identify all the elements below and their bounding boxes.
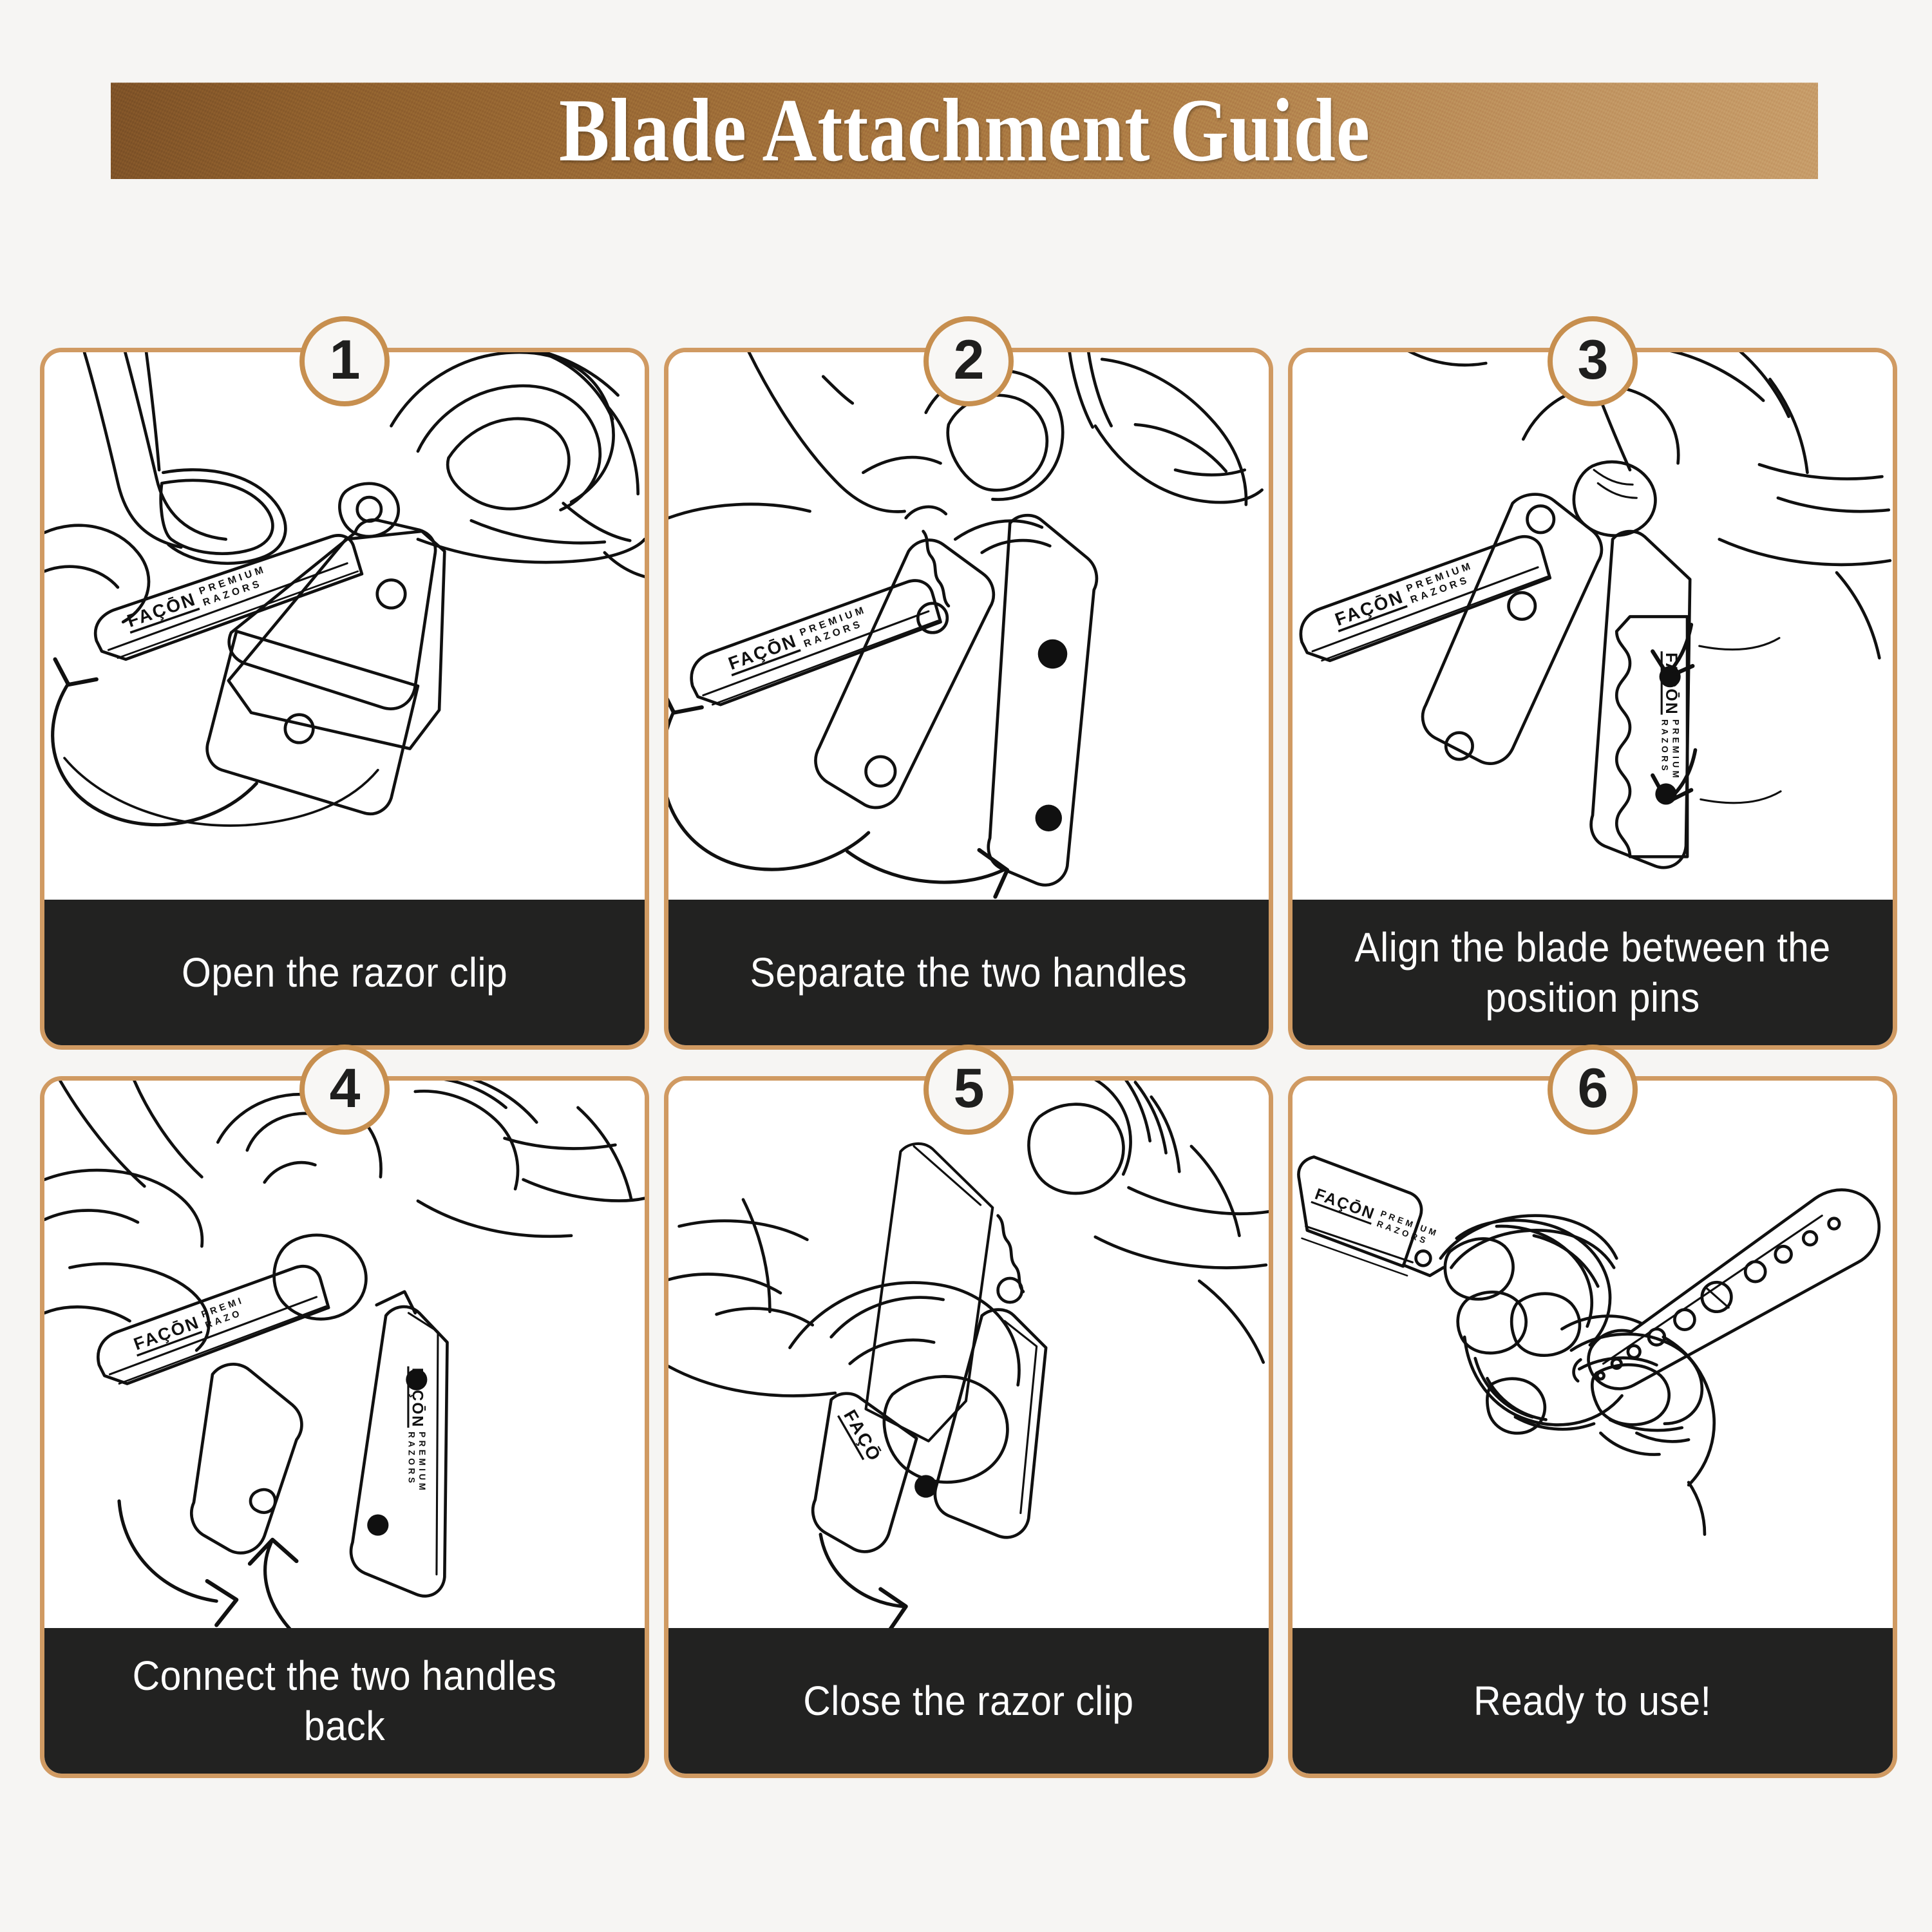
step-card-inner-1: FAÇŌN PREMIUM RAZORS [44, 352, 645, 1045]
svg-text:RAZORS: RAZORS [406, 1432, 416, 1486]
step-card-3[interactable]: 3 [1288, 348, 1897, 1050]
step-caption-text-6: Ready to use! [1473, 1676, 1711, 1726]
svg-text:PREMIUM: PREMIUM [1671, 719, 1680, 781]
illustration-align-blade-pins: FAÇŌN PREMIUM RAZORS [1293, 352, 1893, 900]
illustration-ready-to-use: FAÇŌN PREMIUM RAZORS [1293, 1081, 1893, 1628]
step-card-inner-4: FAÇŌN PREMI RAZO FAÇŌN [44, 1081, 645, 1774]
svg-text:FAÇŌN: FAÇŌN [131, 1312, 202, 1354]
step-caption-6: Ready to use! [1293, 1628, 1893, 1774]
step-card-inner-5: FAÇŌ Close the razor clip [668, 1081, 1269, 1774]
svg-text:FAÇŌN: FAÇŌN [1332, 586, 1406, 629]
header-banner: Blade Attachment Guide [111, 82, 1818, 179]
illustration-open-razor-clip: FAÇŌN PREMIUM RAZORS [44, 352, 645, 900]
step-badge-6: 6 [1548, 1045, 1638, 1135]
step-card-2[interactable]: 2 [664, 348, 1273, 1050]
step-card-5[interactable]: 5 [664, 1076, 1273, 1778]
step-number-5: 5 [954, 1061, 984, 1116]
step-number-4: 4 [330, 1061, 360, 1116]
page-title: Blade Attachment Guide [559, 86, 1370, 176]
step-caption-text-5: Close the razor clip [803, 1676, 1133, 1726]
step-caption-2: Separate the two handles [668, 900, 1269, 1045]
step-number-2: 2 [954, 332, 984, 388]
step-caption-text-1: Open the razor clip [182, 947, 507, 998]
step-caption-text-3: Align the blade between the position pin… [1340, 922, 1845, 1023]
illustration-close-razor-clip: FAÇŌ [668, 1081, 1269, 1628]
step-badge-4: 4 [299, 1045, 390, 1135]
svg-text:FAÇŌN: FAÇŌN [1312, 1185, 1378, 1224]
step-caption-1: Open the razor clip [44, 900, 645, 1045]
step-number-1: 1 [330, 332, 360, 388]
step-caption-4: Connect the two handles back [44, 1628, 645, 1774]
illustration-separate-handles: FAÇŌN PREMIUM RAZORS [668, 352, 1269, 900]
svg-text:PREMIUM: PREMIUM [417, 1432, 427, 1493]
step-badge-1: 1 [299, 316, 390, 406]
illustration-connect-handles: FAÇŌN PREMI RAZO FAÇŌN [44, 1081, 645, 1628]
step-number-3: 3 [1578, 332, 1608, 388]
step-card-inner-6: FAÇŌN PREMIUM RAZORS [1293, 1081, 1893, 1774]
step-card-inner-2: FAÇŌN PREMIUM RAZORS [668, 352, 1269, 1045]
step-caption-text-4: Connect the two handles back [92, 1651, 597, 1751]
step-caption-5: Close the razor clip [668, 1628, 1269, 1774]
step-card-1[interactable]: 1 [40, 348, 649, 1050]
steps-grid: 1 [40, 348, 1892, 1778]
step-card-6[interactable]: 6 FAÇŌN PREMIUM RAZORS [1288, 1076, 1897, 1778]
infographic-page: Blade Attachment Guide 1 [0, 0, 1932, 1932]
step-badge-2: 2 [923, 316, 1014, 406]
step-card-4[interactable]: 4 [40, 1076, 649, 1778]
step-number-6: 6 [1578, 1061, 1608, 1116]
step-caption-text-2: Separate the two handles [750, 947, 1188, 998]
step-badge-5: 5 [923, 1045, 1014, 1135]
step-caption-3: Align the blade between the position pin… [1293, 900, 1893, 1045]
step-card-inner-3: FAÇŌN PREMIUM RAZORS [1293, 352, 1893, 1045]
svg-text:FAÇŌN: FAÇŌN [726, 630, 800, 674]
svg-text:RAZORS: RAZORS [1660, 719, 1670, 773]
step-badge-3: 3 [1548, 316, 1638, 406]
